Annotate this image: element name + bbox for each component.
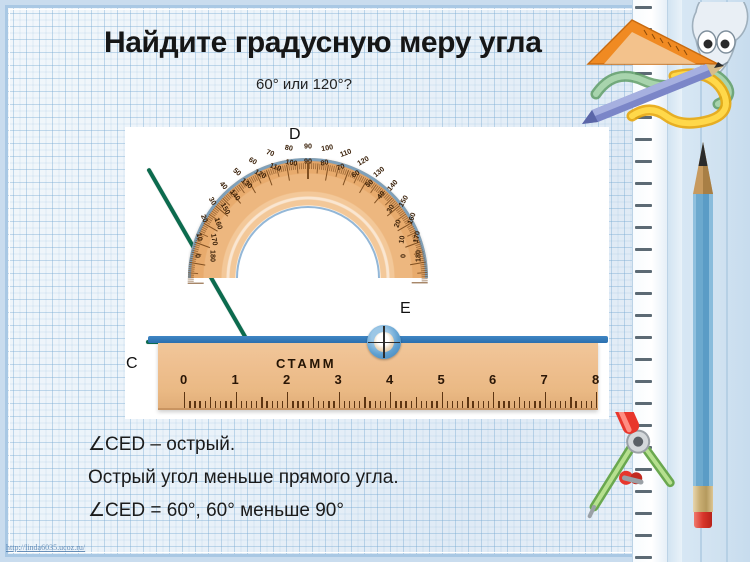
ruler-tick (369, 401, 370, 408)
protractor-tick (188, 282, 204, 283)
vertical-ruler-tick (635, 402, 652, 405)
ruler-tick (436, 401, 437, 408)
ruler-tick (529, 401, 530, 408)
ruler-tick (550, 401, 551, 408)
ruler-tick (380, 401, 381, 408)
compass-icon (582, 412, 690, 530)
ruler-tick (246, 401, 247, 408)
protractor-degree-label: 10 (396, 234, 406, 243)
protractor-tick (188, 274, 194, 276)
vertical-ruler-tick (635, 534, 652, 537)
ruler-tick (581, 401, 582, 408)
ruler-tick (447, 401, 448, 408)
ruler-tick (457, 401, 458, 408)
ruler-tick (519, 397, 520, 408)
ruler-tick (478, 401, 479, 408)
ruler-number-label: 3 (335, 372, 342, 387)
ruler-tick (483, 401, 484, 408)
conclusion-line-1: ∠CED – острый. (88, 428, 568, 461)
protractor-tick (412, 282, 428, 283)
conclusion-line-3: ∠CED = 60°, 60° меньше 90° (88, 494, 568, 527)
ruler-tick (570, 397, 571, 408)
ruler-tick (205, 401, 206, 408)
protractor-degree-label: 100 (320, 142, 333, 153)
protractor-degree-label: 0 (194, 254, 203, 258)
ruler-tick (555, 401, 556, 408)
vertical-ruler-tick (635, 358, 652, 361)
ruler-tick (184, 392, 185, 408)
protractor-tick (188, 278, 194, 280)
ruler-number-label: 8 (592, 372, 599, 387)
ruler-tick (349, 401, 350, 408)
vertical-ruler-tick (635, 138, 652, 141)
ruler-tick (344, 401, 345, 408)
point-label-e: E (400, 300, 411, 318)
ruler-tick (241, 401, 242, 408)
pencil-ferrule (693, 486, 713, 512)
ruler-tick (539, 401, 540, 408)
ruler-tick (220, 401, 221, 408)
vertical-ruler-tick (635, 556, 652, 559)
pivot-crosshair-vertical (383, 326, 384, 358)
ruler-tick (390, 392, 391, 408)
protractor-degree-label: 10 (195, 232, 205, 241)
vertical-ruler-tick (635, 160, 652, 163)
ruler-tick (333, 401, 334, 408)
ruler-tick (225, 401, 226, 408)
protractor-degree-label: 180 (209, 250, 218, 262)
protractor-inner-rim (236, 206, 380, 350)
protractor-degree-label: 180 (414, 250, 423, 262)
protractor-degree-label: 130 (371, 164, 386, 179)
ruler-tick (524, 401, 525, 408)
ruler-tick (199, 401, 200, 408)
ruler-tick (328, 401, 329, 408)
ruler-tick (261, 397, 262, 408)
protractor-degree-label: 50 (231, 165, 243, 177)
ruler-tick (586, 401, 587, 408)
source-watermark[interactable]: http://linda6035.ucoz.ru/ (6, 543, 85, 552)
ruler-tick (411, 401, 412, 408)
ruler-tick (354, 401, 355, 408)
ruler-tick (287, 392, 288, 408)
vertical-ruler-tick (635, 204, 652, 207)
ruler-tick (545, 392, 546, 408)
protractor-degree-label: 70 (335, 161, 346, 172)
ruler-tick (400, 401, 401, 408)
vertical-ruler-tick (635, 336, 652, 339)
ruler-tick (230, 401, 231, 408)
ruler-tick (534, 401, 535, 408)
ruler-tick (421, 401, 422, 408)
ruler-tick (375, 401, 376, 408)
ruler-number-label: 6 (489, 372, 496, 387)
ruler-number-label: 7 (541, 372, 548, 387)
ruler-number-label: 5 (438, 372, 445, 387)
vertical-ruler-tick (635, 292, 652, 295)
ruler-tick (493, 392, 494, 408)
ruler-tick (194, 401, 195, 408)
ruler-tick (266, 401, 267, 408)
ruler-tick (189, 401, 190, 408)
point-label-d: D (289, 126, 301, 144)
ruler-bottom-edge (158, 408, 598, 410)
page-subtitle: 60° или 120°? (104, 76, 504, 93)
ruler-tick (308, 401, 309, 408)
ruler-tick (210, 397, 211, 408)
protractor-degree-label: 90 (304, 141, 312, 150)
ruler-tick (292, 401, 293, 408)
vertical-ruler-tick (635, 314, 652, 317)
ruler-tick (297, 401, 298, 408)
protractor-degree-label: 170 (209, 232, 220, 245)
vertical-ruler-tick (635, 380, 652, 383)
conclusion-block: ∠CED – острый. Острый угол меньше прямог… (88, 428, 568, 527)
ruler-tick (416, 397, 417, 408)
ruler-tick (514, 401, 515, 408)
ruler-tick (462, 401, 463, 408)
vertical-ruler-tick (635, 226, 652, 229)
ruler-tick (313, 397, 314, 408)
ruler-tick (575, 401, 576, 408)
ruler-tick (277, 401, 278, 408)
ruler-tick (565, 401, 566, 408)
ruler-tick (395, 401, 396, 408)
ruler-number-label: 1 (232, 372, 239, 387)
protractor-degree-label: 100 (285, 156, 298, 167)
protractor-tick (188, 280, 194, 281)
ruler-tick (498, 401, 499, 408)
ruler-tick (272, 401, 273, 408)
ruler-tick (467, 397, 468, 408)
ruler-tick (472, 401, 473, 408)
ruler-tick (364, 397, 365, 408)
pencil-illustration (690, 140, 716, 528)
ruler-tick (215, 401, 216, 408)
ruler-tick (591, 401, 592, 408)
protractor-tick (188, 276, 194, 278)
page-title: Найдите градусную меру угла (104, 26, 574, 60)
slide-canvas: Найдите градусную меру угла 60° или 120°… (0, 0, 750, 562)
ruler-tick (488, 401, 489, 408)
ruler-tick (318, 401, 319, 408)
vertical-ruler-tick (635, 182, 652, 185)
compass-illustration (582, 412, 690, 530)
protractor-degree-label: 0 (399, 254, 408, 258)
vertical-ruler-tick (635, 270, 652, 273)
ruler-number-label: 2 (283, 372, 290, 387)
ruler-brand-label: СТАММ (276, 356, 336, 371)
point-label-c: C (126, 355, 138, 373)
ruler-tick (385, 401, 386, 408)
ruler-tick (359, 401, 360, 408)
ruler-tick (323, 401, 324, 408)
ruler-tick (251, 401, 252, 408)
ruler-tick (596, 392, 597, 408)
ruler-tick (431, 401, 432, 408)
pencil-eraser (694, 512, 712, 528)
stationery-clipart (578, 2, 750, 130)
ruler-number-label: 0 (180, 372, 187, 387)
pencil-shaft (693, 194, 713, 486)
protractor-degree-label: 80 (320, 157, 329, 167)
vertical-ruler-tick (635, 248, 652, 251)
ruler-tick (503, 401, 504, 408)
ruler-tick (339, 392, 340, 408)
protractor-degree-label: 90 (304, 156, 312, 165)
ruler-tick (508, 401, 509, 408)
ruler-tick (282, 401, 283, 408)
protractor: 0180101702016030150401405013060120701108… (188, 158, 428, 353)
ruler-tick (236, 392, 237, 408)
ruler-number-label: 4 (386, 372, 393, 387)
ruler-tick (560, 401, 561, 408)
clipart-group-icon (578, 2, 750, 130)
ruler-tick (405, 401, 406, 408)
ruler-tick (442, 392, 443, 408)
protractor-degree-label: 170 (411, 230, 422, 243)
ruler-tick (452, 401, 453, 408)
ruler-tick (426, 401, 427, 408)
conclusion-line-2: Острый угол меньше прямого угла. (88, 461, 568, 494)
ruler-tick (256, 401, 257, 408)
protractor-degree-label: 150 (396, 193, 410, 208)
ruler-tick (302, 401, 303, 408)
